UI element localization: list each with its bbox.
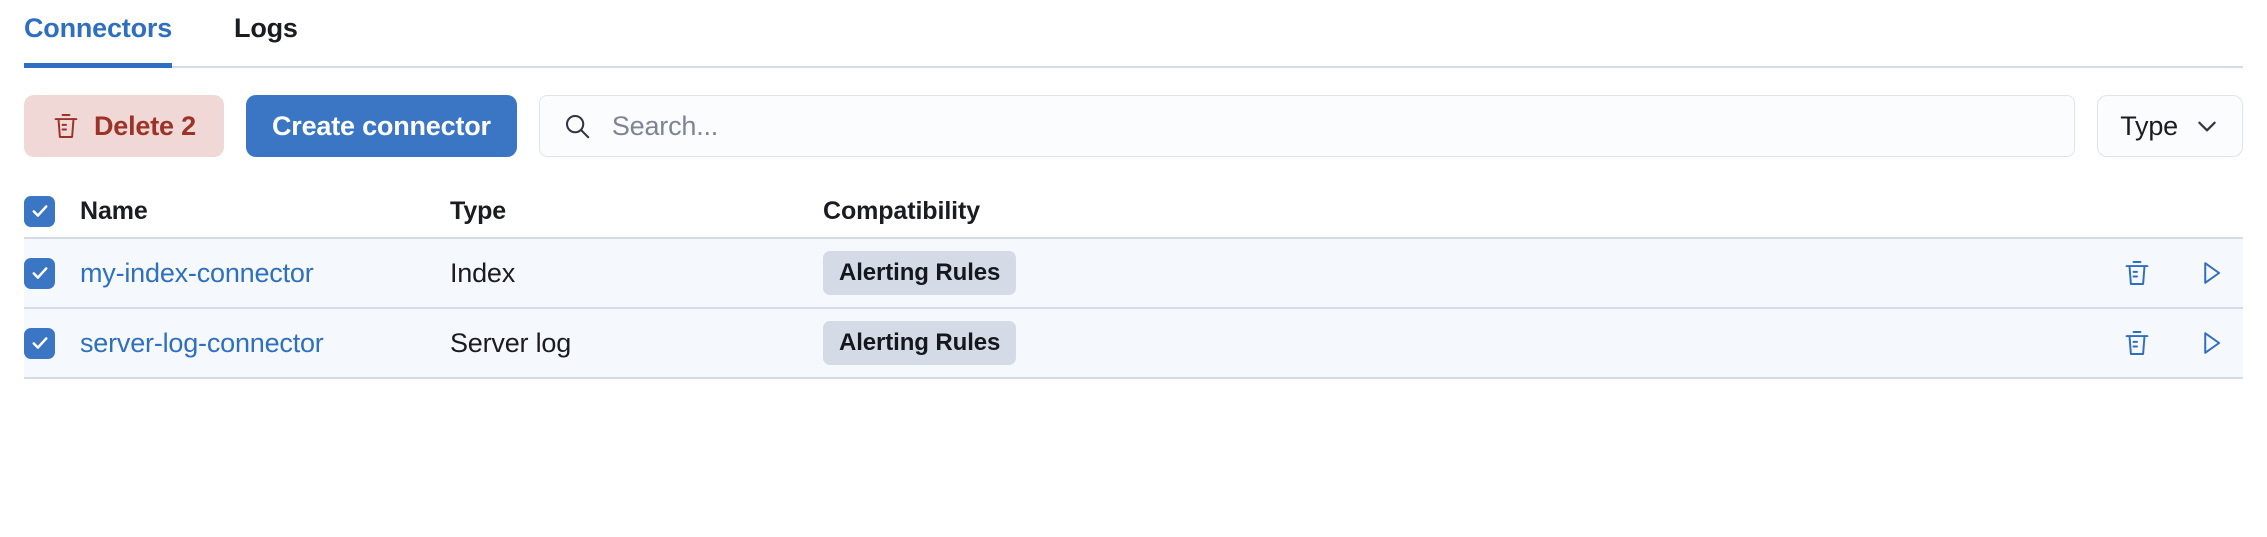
type-filter-dropdown[interactable]: Type (2097, 95, 2243, 157)
select-all-checkbox[interactable] (24, 196, 55, 227)
row-name-cell: server-log-connector (80, 328, 450, 359)
row-name-cell: my-index-connector (80, 258, 450, 289)
trash-icon (52, 111, 80, 141)
row-select-cell (24, 258, 80, 289)
row-select-cell (24, 328, 80, 359)
chevron-down-icon (2194, 113, 2220, 139)
table-row[interactable]: my-index-connector Index Alerting Rules (24, 239, 2243, 309)
tab-logs-label: Logs (234, 12, 298, 44)
row-checkbox[interactable] (24, 328, 55, 359)
toolbar: Delete 2 Create connector Type (0, 68, 2267, 157)
tab-connectors[interactable]: Connectors (24, 0, 196, 68)
column-header-type[interactable]: Type (450, 197, 823, 226)
row-type-cell: Index (450, 258, 823, 289)
search-input[interactable] (610, 110, 2052, 143)
row-actions-cell (2023, 328, 2243, 358)
row-compatibility-cell: Alerting Rules (823, 321, 2023, 365)
row-run-icon[interactable] (2197, 328, 2225, 358)
type-filter-label: Type (2120, 111, 2178, 142)
compatibility-badge: Alerting Rules (823, 251, 1016, 295)
select-all-cell (24, 196, 80, 227)
create-connector-button[interactable]: Create connector (246, 95, 517, 157)
row-delete-icon[interactable] (2123, 258, 2151, 288)
search-icon (562, 111, 592, 141)
delete-button-label: Delete 2 (94, 111, 196, 142)
column-header-name[interactable]: Name (80, 197, 450, 226)
connector-name-link[interactable]: server-log-connector (80, 328, 324, 358)
search-box[interactable] (539, 95, 2075, 157)
compatibility-badge: Alerting Rules (823, 321, 1016, 365)
connectors-table: Name Type Compatibility my-index-connect… (24, 185, 2243, 379)
table-row[interactable]: server-log-connector Server log Alerting… (24, 309, 2243, 379)
table-header-row: Name Type Compatibility (24, 185, 2243, 239)
row-type-cell: Server log (450, 328, 823, 359)
row-checkbox[interactable] (24, 258, 55, 289)
create-connector-label: Create connector (272, 111, 491, 142)
delete-button[interactable]: Delete 2 (24, 95, 224, 157)
row-compatibility-cell: Alerting Rules (823, 251, 2023, 295)
tab-bar: Connectors Logs (0, 0, 2267, 68)
row-delete-icon[interactable] (2123, 328, 2151, 358)
column-header-compatibility[interactable]: Compatibility (823, 197, 2023, 226)
row-actions-cell (2023, 258, 2243, 288)
connector-name-link[interactable]: my-index-connector (80, 258, 314, 288)
tab-connectors-label: Connectors (24, 12, 172, 44)
tab-logs[interactable]: Logs (234, 0, 322, 68)
row-run-icon[interactable] (2197, 258, 2225, 288)
